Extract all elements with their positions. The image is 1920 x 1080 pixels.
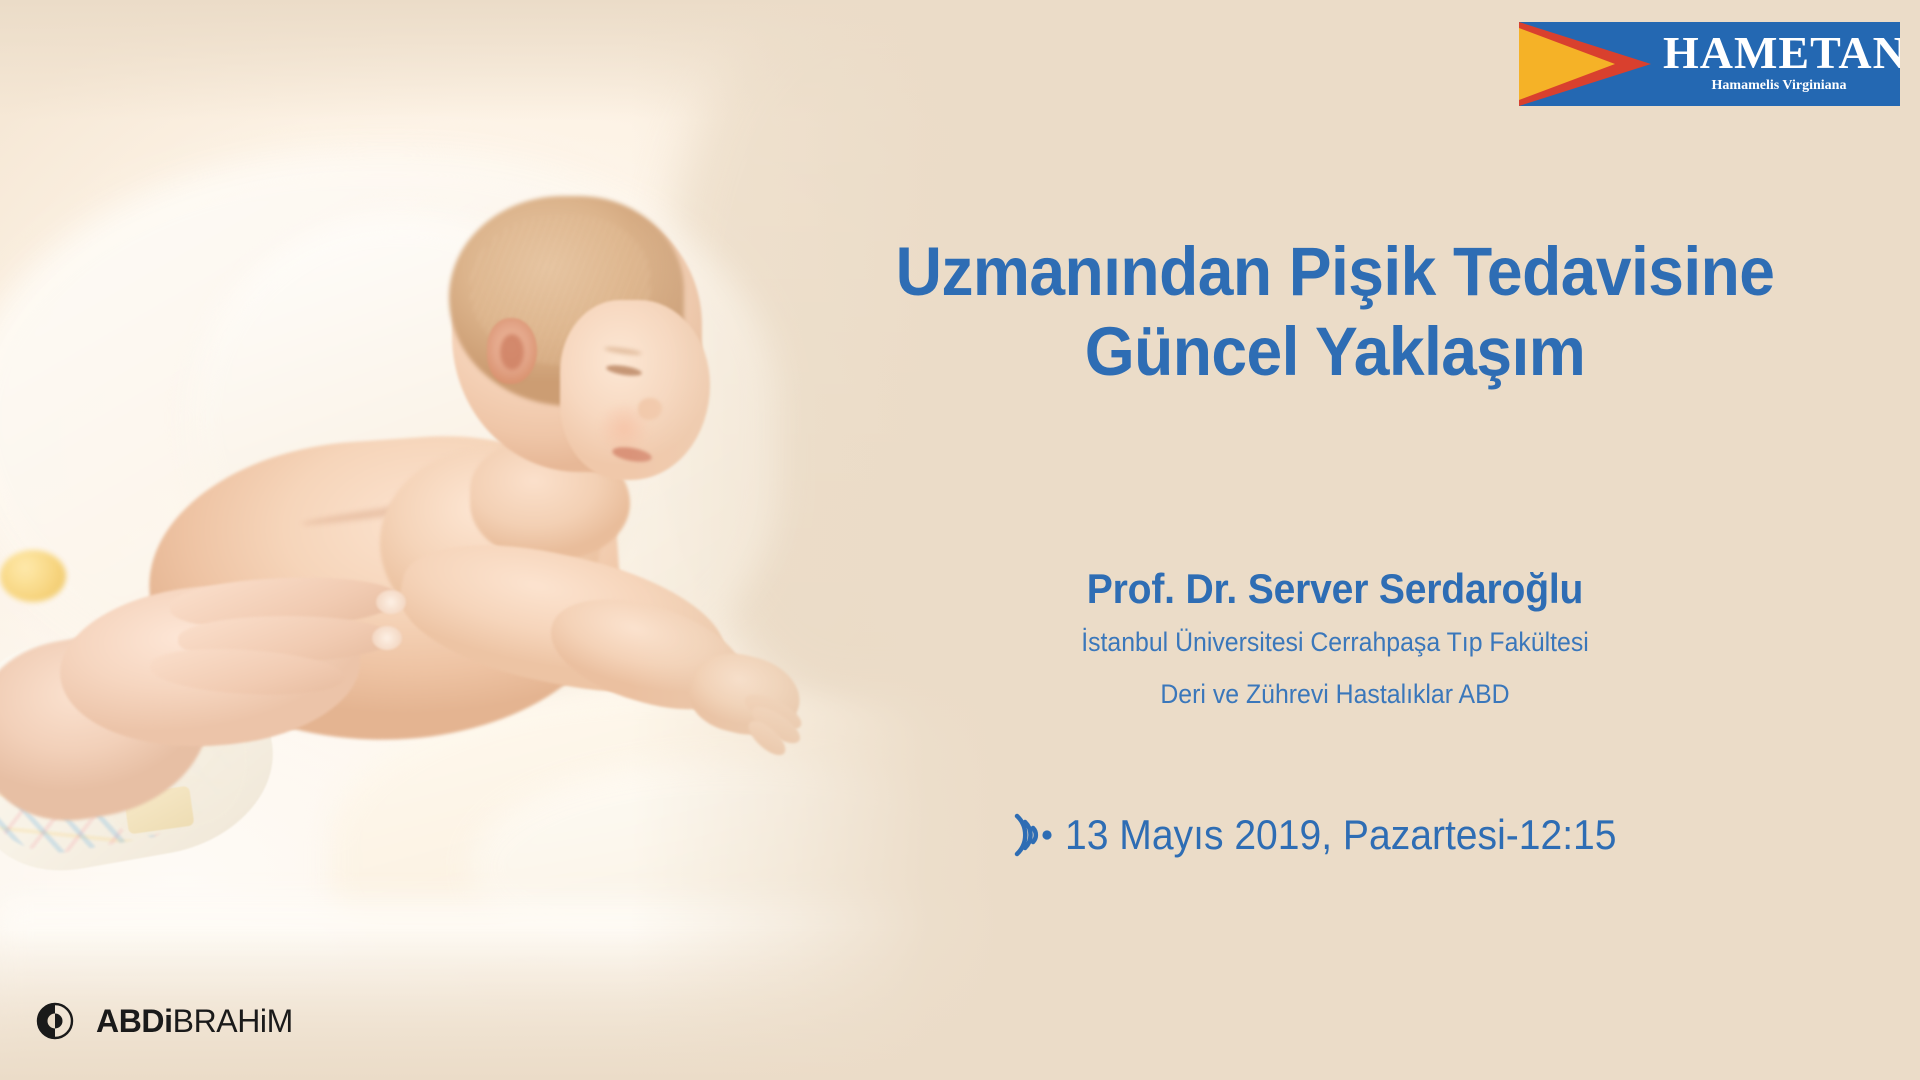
abdi-ibrahim-name-bold: ABDi [96, 1003, 173, 1039]
abdi-ibrahim-circle-mark-icon [36, 1002, 74, 1040]
abdi-ibrahim-logo: ABDiBRAHiM [36, 1002, 293, 1040]
presentation-slide: HAMETAN Hamamelis Virginiana Uzmanından … [0, 0, 1920, 1080]
speaker-name: Prof. Dr. Server Serdaroğlu [865, 563, 1804, 615]
speaker-affiliation-line-1: İstanbul Üniversitesi Cerrahpaşa Tıp Fak… [870, 625, 1799, 659]
broadcast-signal-icon [1011, 810, 1055, 860]
page-title: Uzmanından Pişik Tedavisine Güncel Yakla… [865, 232, 1804, 392]
abdi-ibrahim-name-regular: BRAHiM [173, 1003, 293, 1039]
adult-fingernail [372, 626, 402, 650]
title-line-1: Uzmanından Pişik Tedavisine [865, 232, 1804, 312]
schedule-text: 13 Mayıs 2019, Pazartesi-12:15 [1065, 810, 1617, 860]
adult-fingernail [376, 590, 406, 614]
photo-toy [0, 550, 66, 602]
title-line-2: Güncel Yaklaşım [865, 312, 1804, 392]
speaker-affiliation-line-2: Deri ve Zührevi Hastalıklar ABD [870, 677, 1799, 711]
baby-ear-inner [500, 334, 524, 370]
schedule-line: 13 Mayıs 2019, Pazartesi-12:15 [830, 810, 1840, 860]
abdi-ibrahim-wordmark: ABDiBRAHiM [96, 1004, 293, 1038]
slide-text-block: Uzmanından Pişik Tedavisine Güncel Yakla… [830, 0, 1840, 1080]
